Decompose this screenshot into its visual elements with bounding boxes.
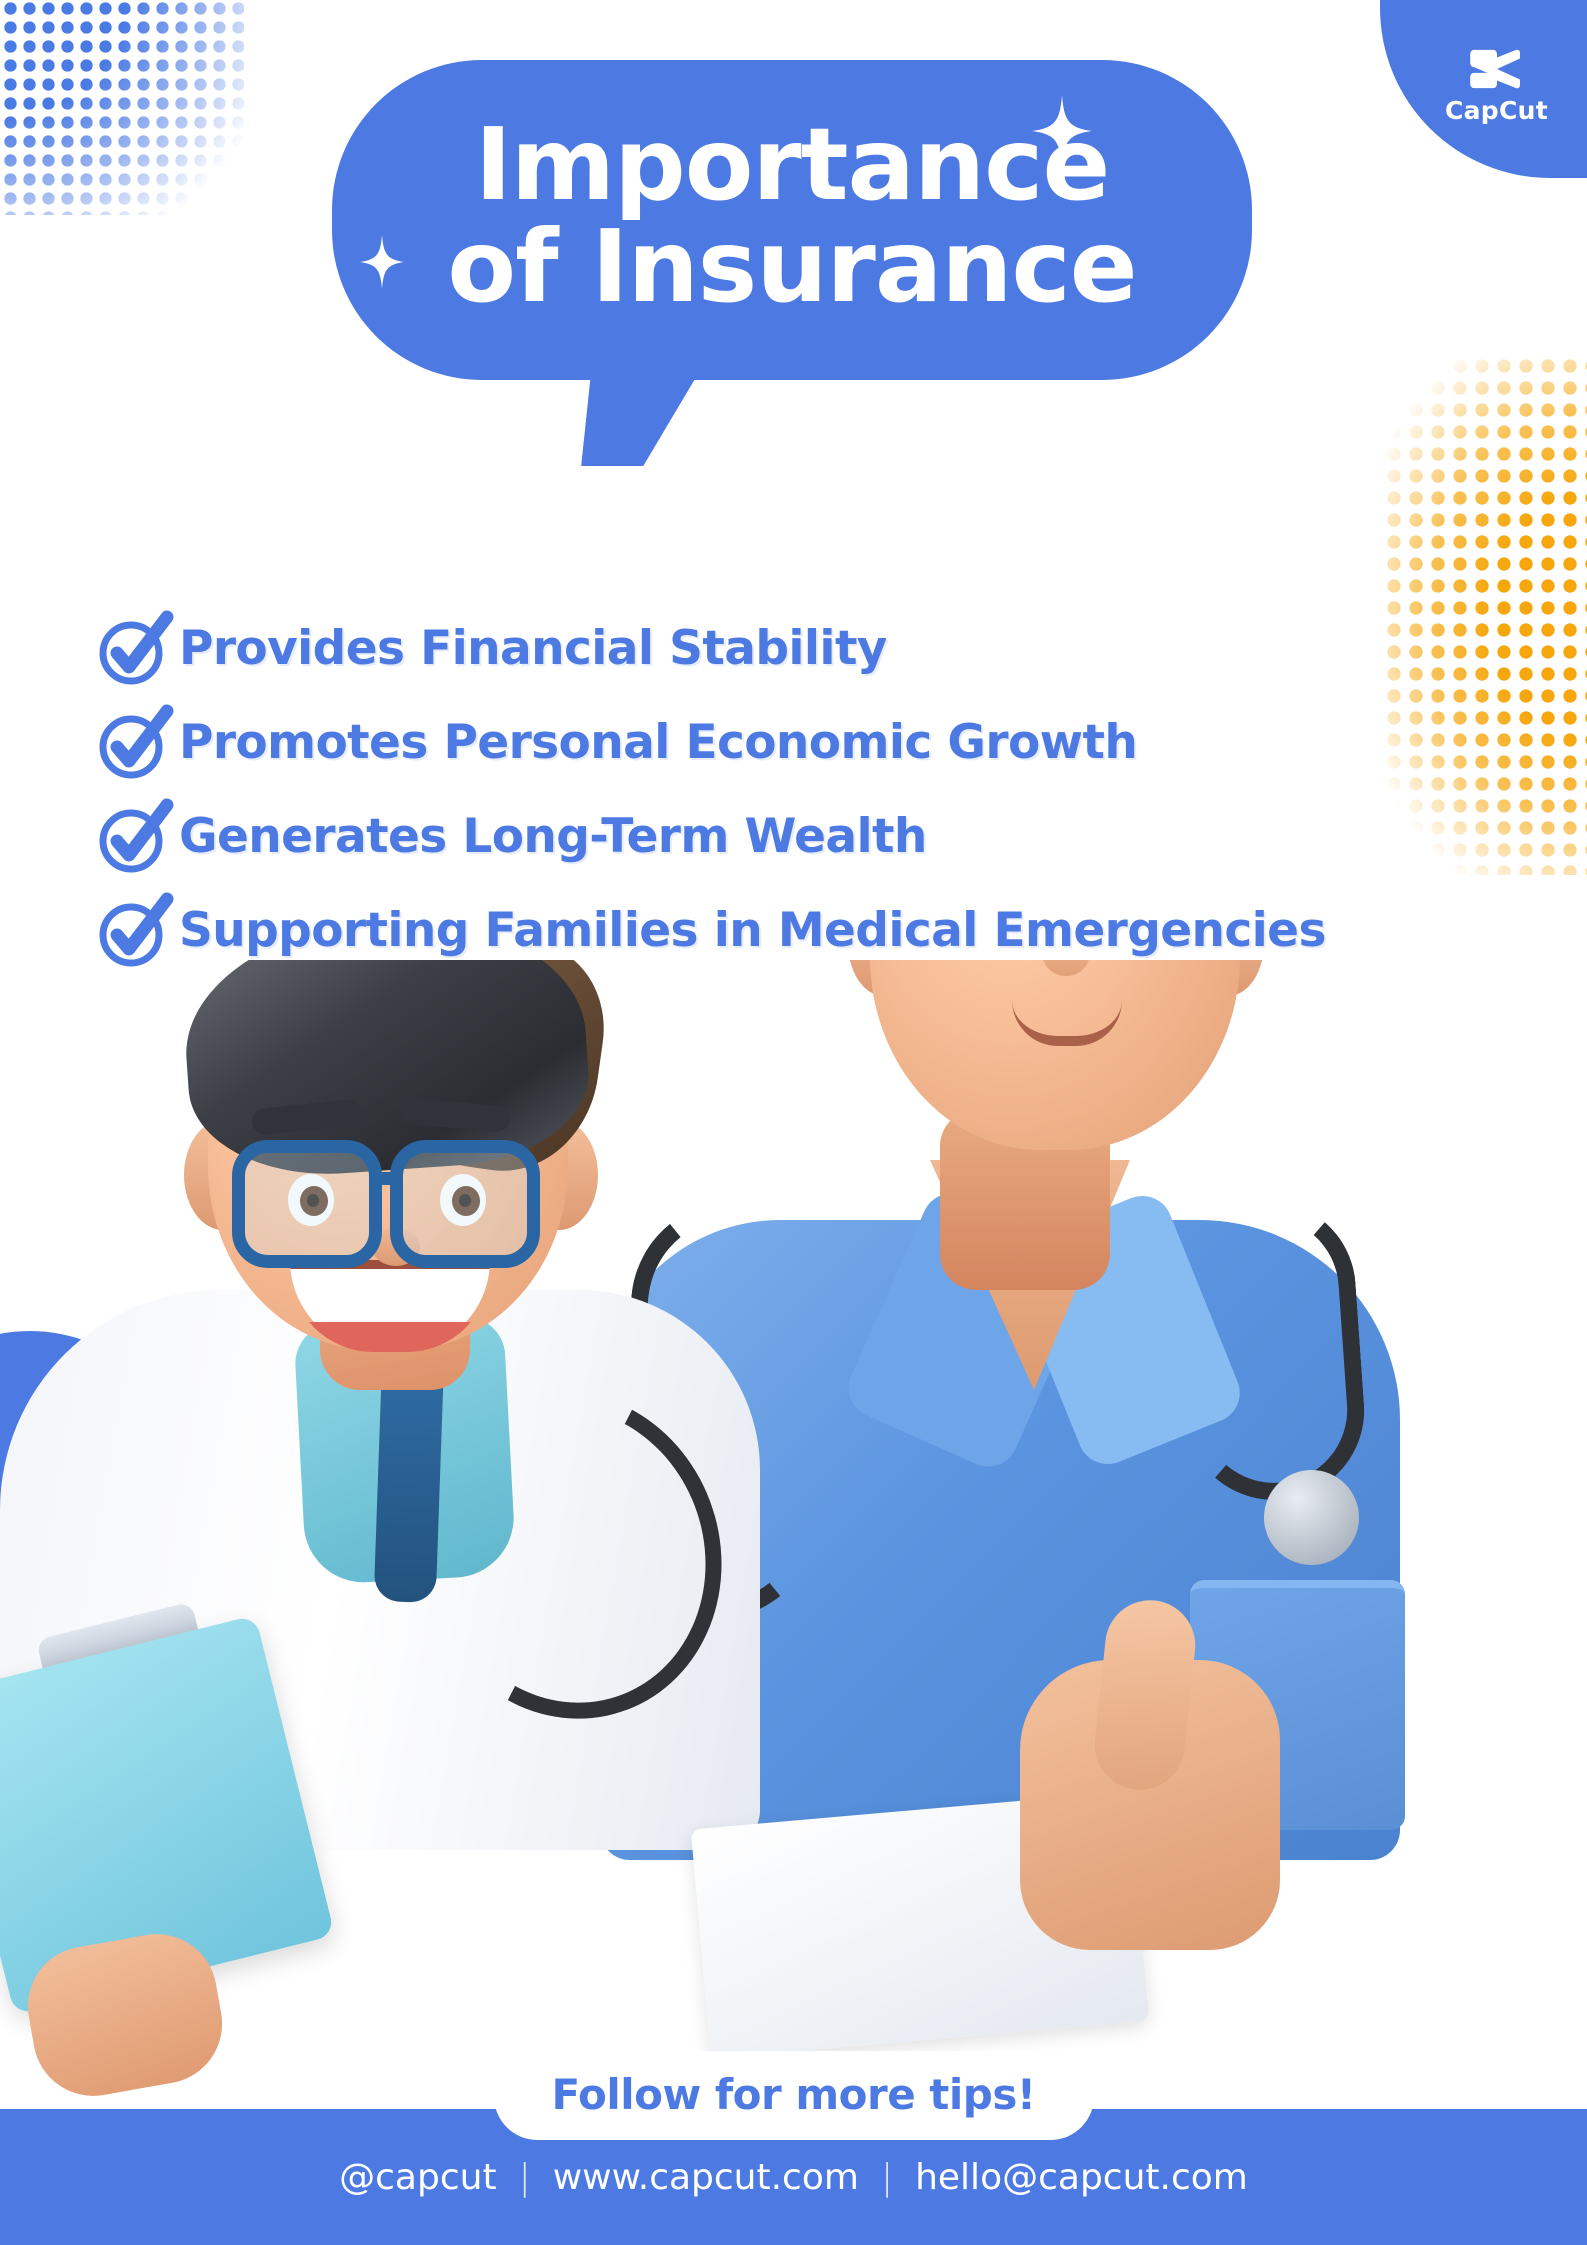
email-address[interactable]: hello@capcut.com [915, 2157, 1248, 2198]
list-item: Provides Financial Stability [95, 612, 1515, 684]
title-line-1: Importance [392, 114, 1192, 216]
doctor-glasses-bridge [375, 1172, 401, 1185]
capcut-logo-badge: CapCut [1380, 0, 1587, 178]
follow-cta-label: Follow for more tips! [551, 2070, 1035, 2119]
website-url[interactable]: www.capcut.com [553, 2157, 859, 2198]
list-item: Promotes Personal Economic Growth [95, 706, 1515, 778]
capcut-logo-icon [1466, 47, 1528, 91]
check-circle-icon [95, 799, 169, 873]
footer-separator: | [519, 2157, 531, 2198]
page-title: Importance of Insurance [392, 114, 1192, 318]
list-item: Generates Long-Term Wealth [95, 800, 1515, 872]
doctor-glasses-right-lens [390, 1140, 540, 1268]
list-item-label: Generates Long-Term Wealth [179, 809, 927, 864]
check-circle-icon [95, 611, 169, 685]
footer-contact-line: @capcut | www.capcut.com | hello@capcut.… [339, 2157, 1248, 2198]
doctors-illustration [0, 960, 1587, 2130]
check-circle-icon [95, 705, 169, 779]
check-circle-icon [95, 893, 169, 967]
doctor-smile [290, 1260, 490, 1352]
title-line-2: of Insurance [392, 216, 1192, 318]
list-item-label: Supporting Families in Medical Emergenci… [179, 903, 1326, 958]
benefits-list: Provides Financial Stability Promotes Pe… [95, 612, 1515, 988]
list-item: Supporting Families in Medical Emergenci… [95, 894, 1515, 966]
follow-cta-badge[interactable]: Follow for more tips! [493, 2053, 1093, 2140]
title-speech-bubble: Importance of Insurance [332, 60, 1252, 380]
poster-canvas: CapCut Importance of Insurance [0, 0, 1587, 2245]
capcut-wordmark: CapCut [1445, 96, 1548, 125]
speech-bubble-tail [581, 376, 696, 466]
nurse-stethoscope-right-tube [1170, 1194, 1370, 1506]
list-item-label: Promotes Personal Economic Growth [179, 715, 1137, 770]
title-bubble-wrapper: Importance of Insurance [332, 60, 1252, 380]
footer-separator: | [881, 2157, 893, 2198]
stethoscope-chestpiece-icon [1264, 1470, 1359, 1565]
list-item-label: Provides Financial Stability [179, 621, 887, 676]
halftone-dots-blue-decoration [0, 0, 244, 215]
social-handle[interactable]: @capcut [339, 2157, 496, 2198]
nurse-head [870, 960, 1240, 1150]
doctor-glasses-left-lens [232, 1140, 382, 1268]
